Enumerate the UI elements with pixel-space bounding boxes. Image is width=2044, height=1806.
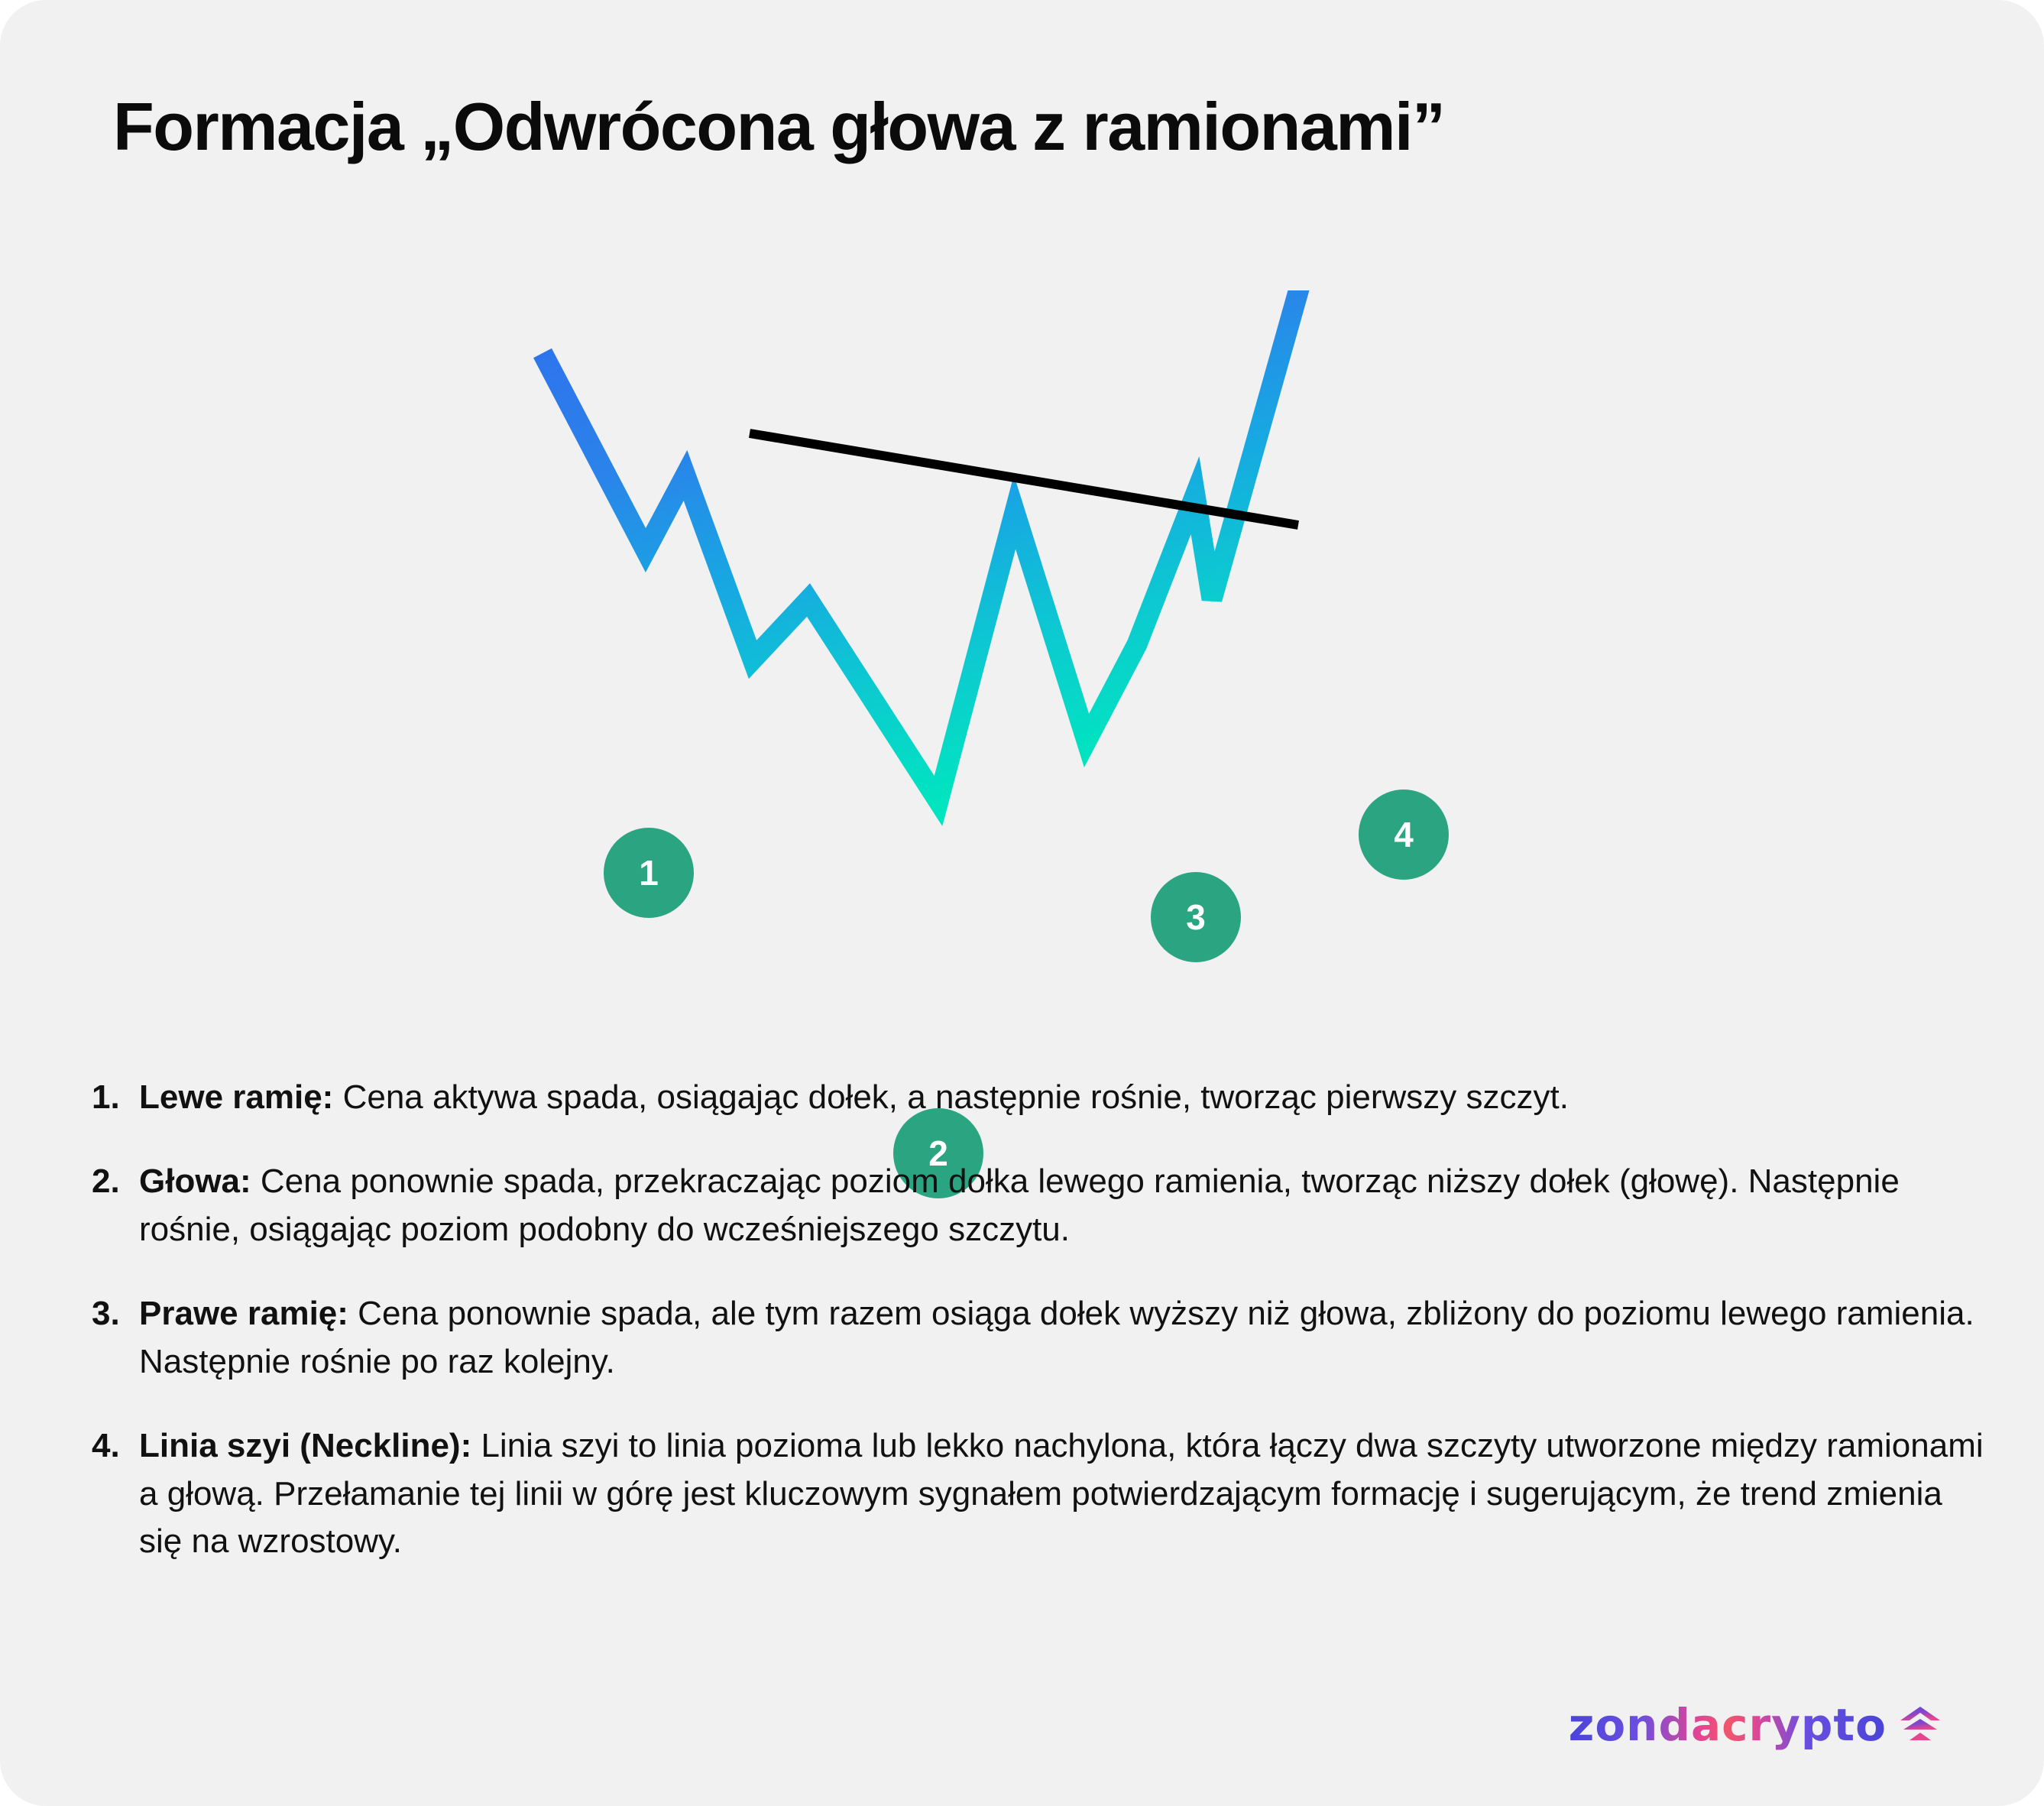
list-item-body: Prawe ramię: Cena ponownie spada, ale ty… xyxy=(139,1290,1987,1386)
annotation-badge-3: 3 xyxy=(1151,872,1241,962)
page-title: Formacja „Odwrócona głowa z ramionami” xyxy=(113,90,1947,164)
annotation-badge-3-label: 3 xyxy=(1186,897,1206,938)
list-item: 3. Prawe ramię: Cena ponownie spada, ale… xyxy=(92,1290,1987,1386)
list-item: 1. Lewe ramię: Cena aktywa spada, osiąga… xyxy=(92,1074,1987,1121)
chart-background xyxy=(0,290,2044,1070)
brand-logo: zondacrypto xyxy=(1569,1699,1943,1751)
zondacrypto-chevron-icon xyxy=(1897,1702,1943,1748)
brand-logo-text: zondacrypto xyxy=(1569,1699,1887,1751)
list-item-term: Linia szyi (Neckline): xyxy=(139,1427,471,1464)
list-item-number: 3. xyxy=(92,1290,139,1337)
list-item-term: Głowa: xyxy=(139,1162,251,1200)
annotation-badge-4-label: 4 xyxy=(1394,814,1414,855)
price-chart: 1 2 3 4 xyxy=(0,290,2044,1070)
steps-list: 1. Lewe ramię: Cena aktywa spada, osiąga… xyxy=(92,1074,1987,1603)
annotation-badge-4: 4 xyxy=(1359,790,1449,880)
list-item-body: Linia szyi (Neckline): Linia szyi to lin… xyxy=(139,1422,1987,1565)
list-item-term: Prawe ramię: xyxy=(139,1295,348,1332)
annotation-badge-1: 1 xyxy=(604,828,694,918)
list-item: 2. Głowa: Cena ponownie spada, przekracz… xyxy=(92,1158,1987,1253)
list-item-term: Lewe ramię: xyxy=(139,1078,333,1116)
list-item-number: 2. xyxy=(92,1158,139,1205)
list-item-body: Lewe ramię: Cena aktywa spada, osiągając… xyxy=(139,1074,1987,1121)
list-item: 4. Linia szyi (Neckline): Linia szyi to … xyxy=(92,1422,1987,1565)
chart-svg-overlay xyxy=(0,290,2044,1070)
list-item-text: Cena ponownie spada, ale tym razem osiąg… xyxy=(139,1295,1974,1380)
list-item-number: 4. xyxy=(92,1422,139,1470)
list-item-text: Cena ponownie spada, przekraczając pozio… xyxy=(139,1162,1900,1247)
list-item-number: 1. xyxy=(92,1074,139,1121)
annotation-badge-1-label: 1 xyxy=(639,852,659,893)
infographic-card: Formacja „Odwrócona głowa z ramionami” 1 xyxy=(0,0,2044,1806)
list-item-text: Cena aktywa spada, osiągając dołek, a na… xyxy=(333,1078,1569,1116)
list-item-body: Głowa: Cena ponownie spada, przekraczają… xyxy=(139,1158,1987,1253)
